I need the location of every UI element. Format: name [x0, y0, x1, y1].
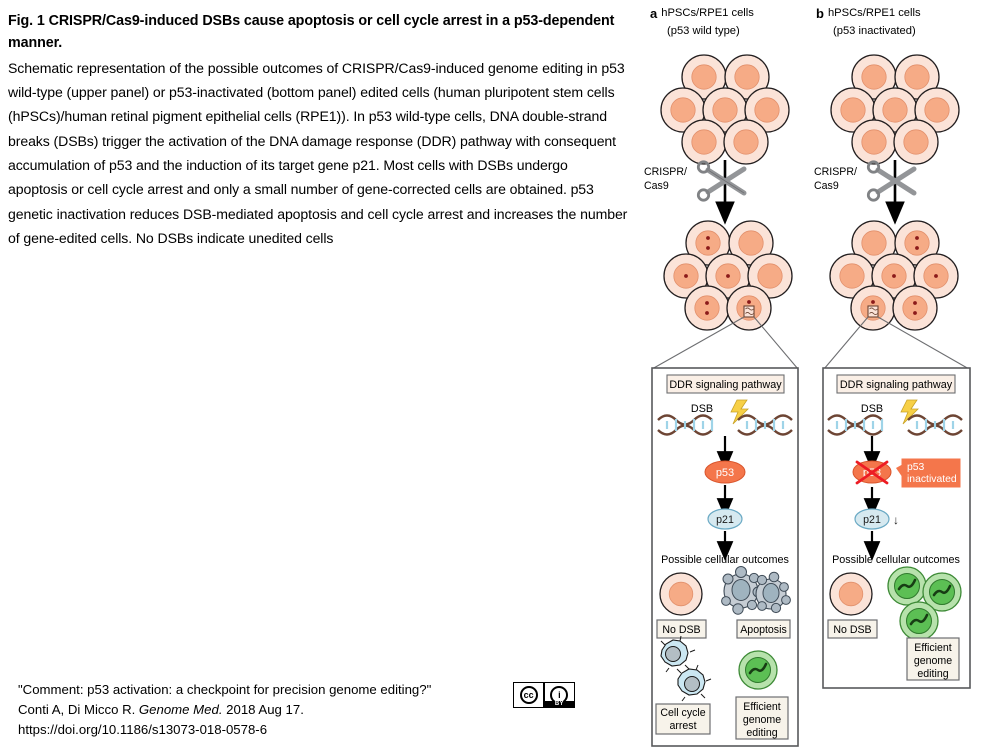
figure-caption: Fig. 1 CRISPR/Cas9-induced DSBs cause ap… [8, 10, 630, 251]
cell-cluster-edited-a [664, 221, 792, 330]
citation-journal: Genome Med. [139, 702, 223, 717]
panel-a: ahPSCs/RPE1 cells (p53 wild type) [640, 0, 810, 754]
caption-title: Fig. 1 CRISPR/Cas9-induced DSBs cause ap… [8, 10, 630, 55]
callout-line-left [824, 317, 868, 369]
dsb-label: DSB [861, 403, 883, 415]
outcome-label-line1: Cell cycle [660, 707, 705, 719]
caption-body: Schematic representation of the possible… [8, 56, 630, 251]
cell [724, 120, 768, 164]
cell-with-dsb [893, 286, 937, 330]
p21-label: p21 [863, 514, 881, 526]
outcome-label: Apoptosis [740, 624, 787, 636]
cell-cluster-edited-b [830, 221, 958, 330]
outcome-label: No DSB [662, 624, 700, 636]
crispr-label-line1: CRISPR/ [644, 166, 687, 178]
edited-cell [900, 602, 938, 640]
ddr-header-label: DDR signaling pathway [840, 379, 953, 391]
outcomes-header-b: Possible cellular outcomes [832, 554, 960, 566]
cc-mark-cell: cc [514, 683, 543, 707]
panel-a-graphic: CRISPR/ Cas9 [640, 0, 810, 754]
p21-decrease-arrow: ↓ [893, 513, 899, 527]
p21-label: p21 [716, 514, 734, 526]
cell-with-dsb [685, 286, 729, 330]
outcome-label-line1: Efficient [743, 701, 781, 713]
panel-b: bhPSCs/RPE1 cells (p53 inactivated) [806, 0, 976, 754]
p53-label: p53 [716, 467, 734, 479]
cc-by-label: BY [545, 701, 574, 708]
edited-cell [888, 567, 926, 605]
outcome-label-line1: Efficient [914, 642, 952, 654]
outcome-label: No DSB [833, 624, 871, 636]
cell [682, 120, 726, 164]
outcome-label-line2: genome [914, 655, 952, 667]
crispr-label-line2: Cas9 [814, 180, 839, 192]
cell-cluster-untreated-a [661, 55, 789, 164]
cc-by-license-badge[interactable]: cc i BY [513, 682, 575, 708]
creative-commons-icon: cc [520, 686, 538, 704]
cell [852, 120, 896, 164]
outcome-label-line3: editing [917, 668, 948, 680]
cell-cluster-untreated-b [831, 55, 959, 164]
figure-diagram: ahPSCs/RPE1 cells (p53 wild type) [640, 0, 981, 754]
p53-inactivated-node: p53 [853, 461, 891, 483]
p53-inactivated-callout: p53 inactivated [896, 459, 960, 487]
scissors-icon [868, 162, 914, 200]
callout-line-right [754, 317, 798, 369]
p53-inactivated-line1: p53 [907, 462, 925, 473]
ddr-header-label: DDR signaling pathway [669, 379, 782, 391]
citation-date: 2018 Aug 17. [222, 702, 303, 717]
cc-attribution-cell: i BY [545, 683, 574, 707]
panel-b-graphic: CRISPR/ Cas9 [806, 0, 981, 754]
edited-cell [739, 651, 777, 689]
citation-doi-link[interactable]: https://doi.org/10.1186/s13073-018-0578-… [18, 720, 618, 740]
citation-authors: Conti A, Di Micco R. [18, 702, 139, 717]
outcome-label-line3: editing [746, 727, 777, 739]
crispr-label-line1: CRISPR/ [814, 166, 857, 178]
outcomes-header-a: Possible cellular outcomes [661, 554, 789, 566]
dsb-label: DSB [691, 403, 713, 415]
p53-inactivated-line2: inactivated [907, 474, 957, 485]
cell [894, 120, 938, 164]
crispr-label-line2: Cas9 [644, 180, 669, 192]
scissors-icon [698, 162, 744, 200]
outcome-label-line2: genome [743, 714, 781, 726]
outcome-label-line2: arrest [669, 720, 696, 732]
outcome-no-dsb-a: No DSB [657, 573, 706, 638]
